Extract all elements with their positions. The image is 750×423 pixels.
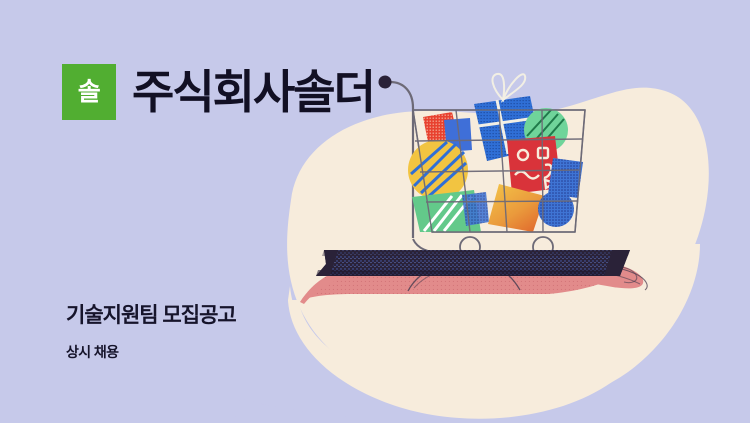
logo-row: 솔 주식회사솔더 xyxy=(62,64,374,120)
recruitment-banner: 솔 주식회사솔더 기술지원팀 모집공고 상시 채용 xyxy=(0,0,750,423)
recruitment-subline: 상시 채용 xyxy=(66,342,236,362)
recruitment-headline: 기술지원팀 모집공고 xyxy=(66,303,236,328)
brand-name: 주식회사솔더 xyxy=(132,69,374,115)
cart-items xyxy=(408,74,583,232)
logo-badge: 솔 xyxy=(62,64,116,120)
cart-handle-knob xyxy=(379,76,392,89)
device-bar xyxy=(316,250,630,276)
item-green-white-striped-gift xyxy=(412,190,489,232)
logo-badge-char: 솔 xyxy=(78,80,101,105)
footer-text-block: 기술지원팀 모집공고 상시 채용 xyxy=(66,303,236,362)
item-yellow-striped-ball xyxy=(408,140,468,200)
